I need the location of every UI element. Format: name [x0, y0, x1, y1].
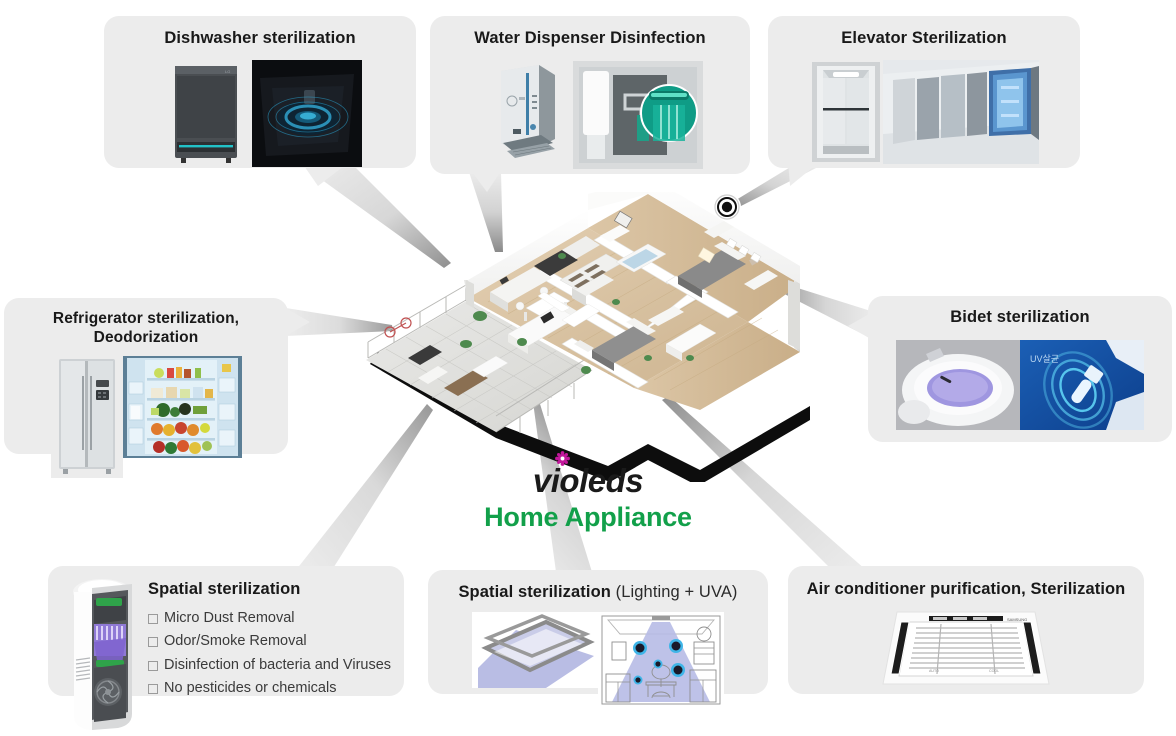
- water-tank-uv-module-photo: [573, 61, 703, 169]
- card-elevator-title: Elevator Sterilization: [768, 29, 1080, 49]
- card-water-dispenser-title: Water Dispenser Disinfection: [430, 29, 750, 49]
- brand-tagline: Home Appliance: [0, 502, 1176, 533]
- card-spatial-lighting-title: Spatial sterilization (Lighting + UVA): [428, 583, 768, 603]
- card-bidet-title: Bidet sterilization: [868, 308, 1172, 328]
- ceiling-cassette-air-conditioner-photo: SAMSUNG AUTOCOOL: [871, 606, 1061, 690]
- card-dishwasher[interactable]: Dishwasher sterilization LG: [104, 16, 416, 168]
- svg-text:AUTO: AUTO: [929, 669, 939, 673]
- floorplan-illustration: [348, 192, 818, 482]
- list-item: Disinfection of bacteria and Viruses: [148, 654, 404, 677]
- card-spatial-sterilization-lighting[interactable]: Spatial sterilization (Lighting + UVA): [428, 570, 768, 694]
- brand-name: violeds: [533, 464, 643, 497]
- elevator-cabin-photo: [809, 60, 883, 164]
- uva-room-coverage-diagram: [598, 612, 724, 706]
- side-by-side-refrigerator-photo: [51, 356, 123, 478]
- bidet-uv-lamp-graphic: UV살균: [1020, 340, 1144, 430]
- list-item: No pesticides or chemicals: [148, 677, 404, 700]
- card-spatial-lighting-title-main: Spatial sterilization: [458, 583, 610, 601]
- card-refrigerator[interactable]: Refrigerator sterilization, Deodorizatio…: [4, 298, 288, 454]
- card-elevator[interactable]: Elevator Sterilization: [768, 16, 1080, 168]
- svg-text:LG: LG: [225, 69, 230, 74]
- card-spatial-lighting-title-note: (Lighting + UVA): [616, 583, 738, 601]
- list-item: Odor/Smoke Removal: [148, 630, 404, 653]
- card-spatial-air-title: Spatial sterilization: [148, 580, 404, 600]
- svg-text:SAMSUNG: SAMSUNG: [1007, 617, 1027, 622]
- violeds-flower-mark: [555, 451, 570, 466]
- svg-text:COOL: COOL: [989, 669, 999, 673]
- elevator-hotspot-marker[interactable]: [712, 192, 742, 222]
- list-item-label: Odor/Smoke Removal: [164, 630, 307, 653]
- uva-ceiling-panel-diagram: [472, 612, 598, 688]
- brand-name-text: violeds: [533, 462, 643, 499]
- card-air-conditioner[interactable]: Air conditioner purification, Sterilizat…: [788, 566, 1144, 694]
- card-refrigerator-title: Refrigerator sterilization, Deodorizatio…: [4, 310, 288, 347]
- refrigerator-interior-photo: [123, 356, 242, 458]
- brand-logo-block: violeds Home Appliance: [0, 464, 1176, 533]
- elevator-hallway-uv-photo: [883, 60, 1039, 164]
- card-water-dispenser[interactable]: Water Dispenser Disinfection: [430, 16, 750, 174]
- list-item-label: Disinfection of bacteria and Viruses: [164, 654, 391, 677]
- dishwasher-product-photo: LG: [159, 60, 252, 167]
- list-item: Micro Dust Removal: [148, 607, 404, 630]
- infographic-canvas: Dishwasher sterilization LG: [0, 0, 1176, 736]
- dishwasher-uv-interior-photo: [252, 60, 362, 167]
- bidet-uv-seat-photo: [896, 340, 1020, 430]
- list-item-label: Micro Dust Removal: [164, 607, 295, 630]
- list-item-label: No pesticides or chemicals: [164, 677, 336, 700]
- water-purifier-product-photo: [477, 57, 573, 169]
- card-bidet[interactable]: Bidet sterilization: [868, 296, 1172, 442]
- card-air-conditioner-title: Air conditioner purification, Sterilizat…: [788, 580, 1144, 600]
- air-purifier-cutaway-photo: [58, 564, 150, 736]
- card-dishwasher-title: Dishwasher sterilization: [104, 29, 416, 49]
- svg-text:UV살균: UV살균: [1030, 354, 1059, 364]
- spatial-air-feature-list: Micro Dust Removal Odor/Smoke Removal Di…: [148, 607, 404, 701]
